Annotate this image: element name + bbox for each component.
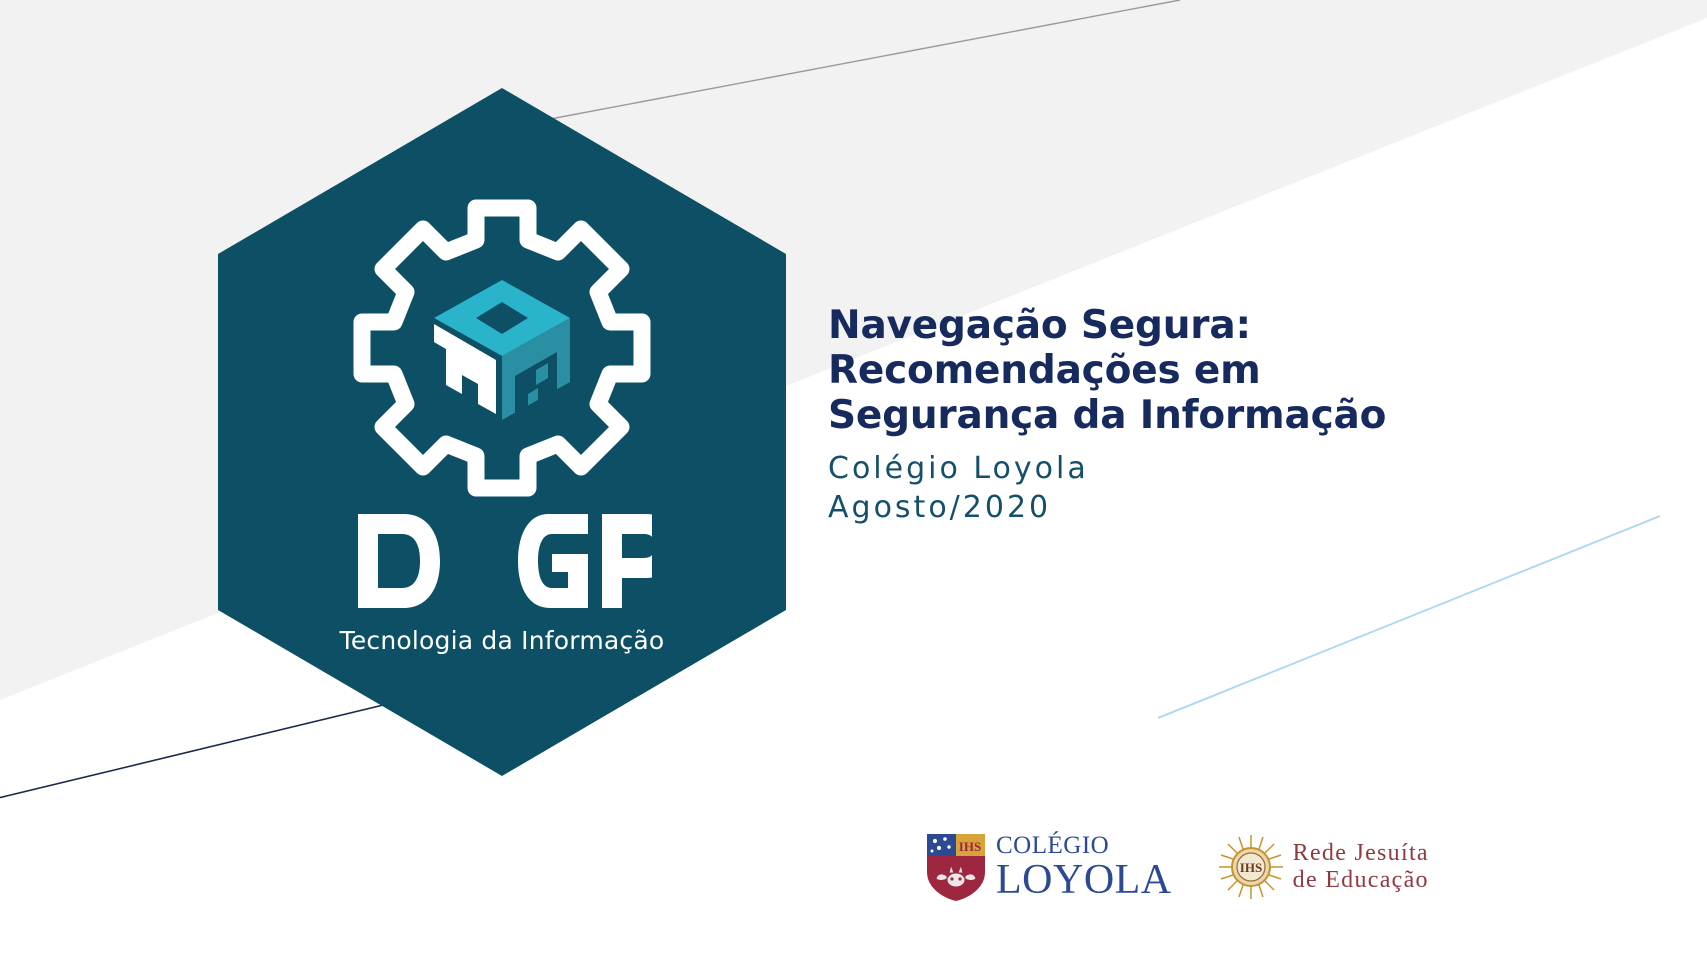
gear-icon [352,198,652,498]
svg-text:IHS: IHS [959,839,981,854]
dgp-wordmark [218,506,786,616]
presentation-slide: Tecnologia da Informação Navegação Segur… [0,0,1707,960]
colegio-loyola-logo: IHS COLÉGIO LOYOLA [925,828,1172,906]
loyola-loyola-text: LOYOLA [996,859,1172,902]
subtitle-date: Agosto/2020 [828,488,1548,527]
title-line-3: Segurança da Informação [828,393,1548,438]
rede-jesuita-line-1: Rede Jesuíta [1293,840,1429,867]
rede-jesuita-text: Rede Jesuíta de Educação [1293,840,1429,895]
title-line-1: Navegação Segura: [828,303,1548,348]
svg-text:IHS: IHS [1239,860,1261,875]
title-line-2: Recomendações em [828,348,1548,393]
blue-hairline [1158,516,1660,718]
subtitle-organization: Colégio Loyola [828,449,1548,488]
isometric-cube [434,280,570,420]
loyola-colegio-text: COLÉGIO [996,833,1172,858]
footer-logo-row: IHS COLÉGIO LOYOLA [925,822,1429,912]
page-subtitle: Colégio Loyola Agosto/2020 [828,449,1548,527]
rede-jesuita-line-2: de Educação [1293,867,1429,894]
dgp-tagline: Tecnologia da Informação [340,626,665,655]
slide-text-block: Navegação Segura: Recomendações em Segur… [828,303,1548,527]
loyola-crest-icon: IHS [925,832,987,902]
ihs-sunburst-icon: IHS [1218,834,1284,900]
page-title: Navegação Segura: Recomendações em Segur… [828,303,1548,439]
rede-jesuita-logo: IHS Rede Jesuíta de Educação [1218,832,1429,902]
dgp-logo: Tecnologia da Informação [218,88,786,776]
